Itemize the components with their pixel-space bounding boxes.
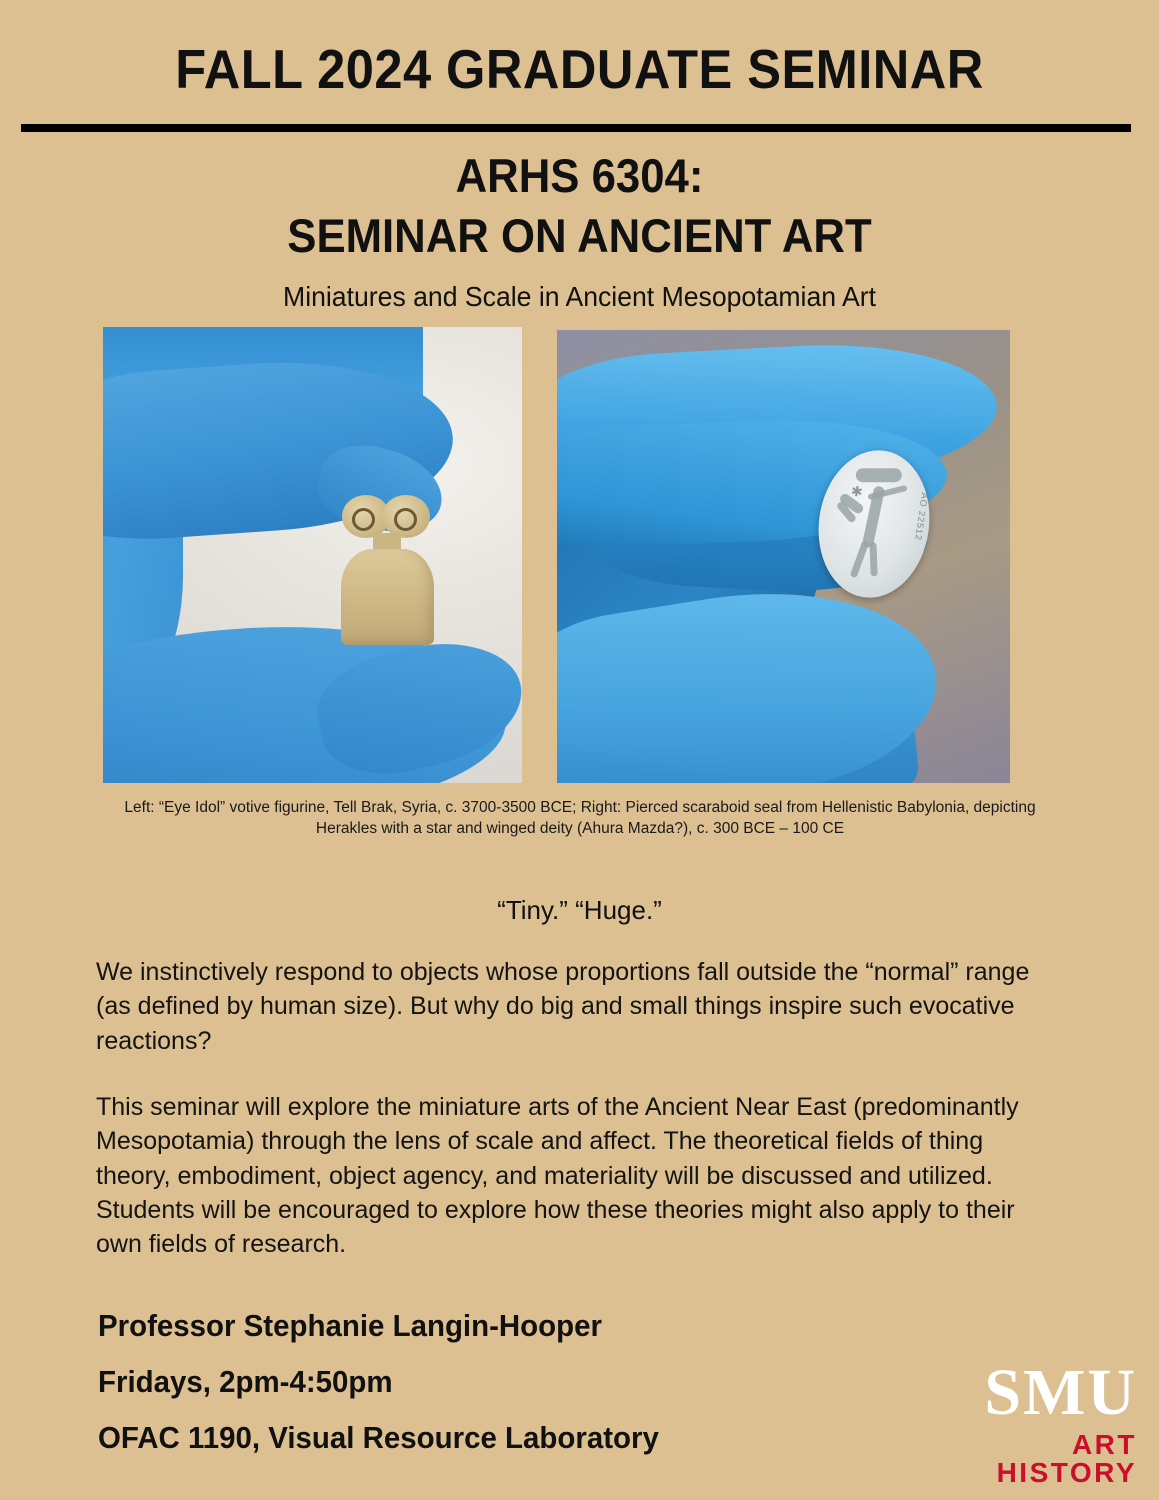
- star-icon: ✱: [849, 484, 864, 499]
- body-paragraph-2: This seminar will explore the miniature …: [96, 1090, 1056, 1261]
- class-location: OFAC 1190, Visual Resource Laboratory: [98, 1422, 858, 1453]
- class-schedule: Fridays, 2pm-4:50pm: [98, 1366, 858, 1397]
- header-divider: [21, 124, 1131, 132]
- course-code: ARHS 6304:: [41, 152, 1119, 199]
- seminar-poster: FALL 2024 GRADUATE SEMINAR ARHS 6304: SE…: [0, 0, 1159, 1500]
- smu-logo: SMU ART HISTORY: [922, 1362, 1137, 1487]
- instructor-name: Professor Stephanie Langin-Hooper: [98, 1310, 858, 1341]
- course-details: Professor Stephanie Langin-Hooper Friday…: [98, 1310, 898, 1478]
- figure-left-eye-idol: [103, 327, 522, 783]
- pull-quote: “Tiny.” “Huge.”: [0, 897, 1159, 923]
- course-name: SEMINAR ON ANCIENT ART: [41, 212, 1119, 259]
- eye-idol-body: [341, 549, 434, 645]
- smu-department-label: ART HISTORY: [922, 1431, 1137, 1487]
- page-title: FALL 2024 GRADUATE SEMINAR: [46, 42, 1112, 97]
- seal-winged-deity: [856, 468, 902, 482]
- figure-caption: Left: “Eye Idol” votive figurine, Tell B…: [100, 798, 1060, 840]
- figure-left-image: [103, 327, 522, 783]
- seal-herakles-torso: [862, 485, 886, 548]
- body-paragraph-1: We instinctively respond to objects whos…: [96, 955, 1056, 1058]
- figure-right-image: ✱ AO 22512: [557, 330, 1010, 783]
- eye-idol-figurine: [339, 495, 436, 645]
- seal-herakles-leg-right: [869, 542, 877, 576]
- course-subtitle: Miniatures and Scale in Ancient Mesopota…: [29, 283, 1130, 311]
- figure-right-scaraboid-seal: ✱ AO 22512: [557, 330, 1010, 783]
- smu-wordmark: SMU: [922, 1362, 1137, 1425]
- seal-herakles-leg-left: [850, 540, 870, 578]
- eye-idol-pupil-left: [352, 508, 375, 531]
- eye-idol-pupil-right: [394, 508, 417, 531]
